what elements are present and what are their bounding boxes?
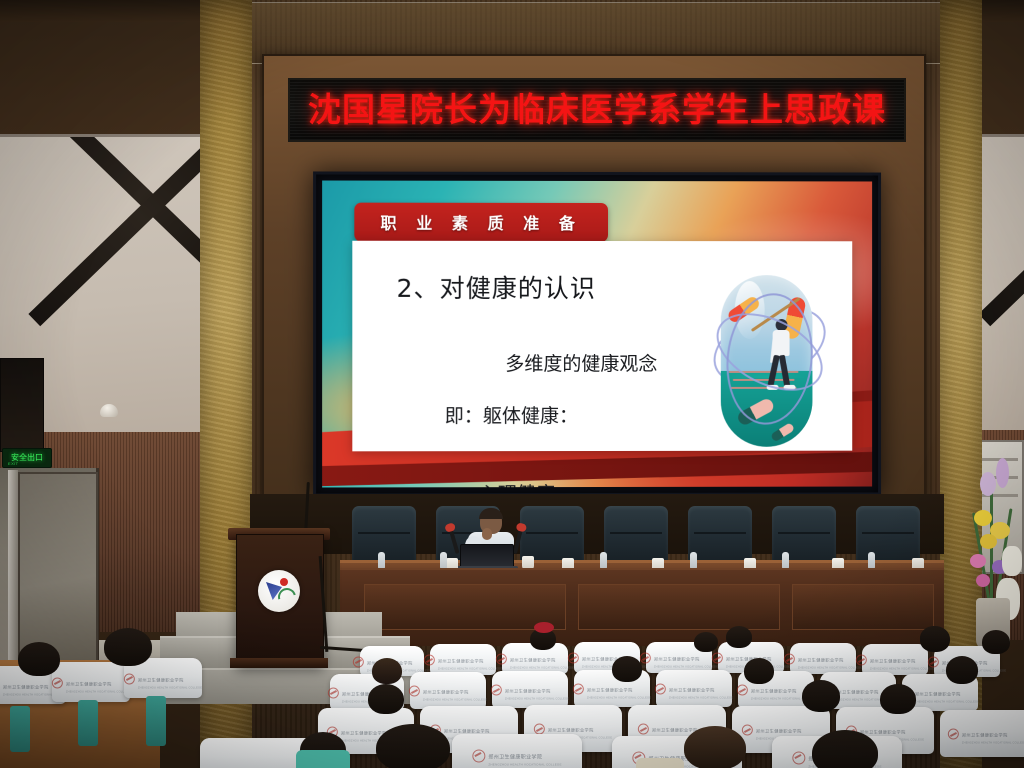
audience-head bbox=[726, 626, 752, 648]
exit-sign-label-en: EXIT bbox=[8, 461, 19, 466]
audience-seat[interactable]: 郑州卫生健康职业学院ZHENGZHOU HEALTH VOCATIONAL CO… bbox=[862, 644, 928, 675]
seat-back-frame bbox=[10, 706, 30, 752]
seat-cover-org: 郑州卫生健康职业学院 bbox=[860, 730, 906, 735]
seat-cover-org: 郑州卫生健康职业学院 bbox=[751, 689, 797, 694]
seat-cover-org: 郑州卫生健康职业学院 bbox=[798, 658, 844, 663]
water-bottle bbox=[868, 552, 875, 569]
seat-cover-org: 郑州卫生健康职业学院 bbox=[488, 754, 542, 760]
slide-body-line-1: 多维度的健康观念 bbox=[505, 353, 657, 375]
flower bbox=[1002, 546, 1022, 576]
water-bottle bbox=[782, 552, 789, 569]
seat-cover-org: 郑州卫生健康职业学院 bbox=[548, 728, 594, 733]
seat-back-frame bbox=[146, 696, 166, 746]
audience-seat[interactable]: 郑州卫生健康职业学院ZHENGZHOU HEALTH VOCATIONAL CO… bbox=[940, 710, 1024, 757]
audience-head bbox=[880, 684, 916, 714]
seat-cover-org-sub: ZHENGZHOU HEALTH VOCATIONAL COLLEGE bbox=[915, 701, 979, 704]
seat-cover-org: 郑州卫生健康职业学院 bbox=[423, 690, 469, 695]
audience-head bbox=[812, 730, 878, 768]
seat-cover-org: 郑州卫生健康职业学院 bbox=[652, 728, 698, 733]
flower bbox=[976, 574, 990, 587]
seat-cover-org: 郑州卫生健康职业学院 bbox=[438, 659, 484, 664]
audience-head bbox=[684, 726, 746, 768]
seat-cover-org-sub: ZHENGZHOU HEALTH VOCATIONAL COLLEGE bbox=[438, 668, 502, 671]
flower bbox=[996, 458, 1009, 488]
hair-bow bbox=[534, 622, 554, 633]
audience-head bbox=[694, 632, 718, 652]
audience-seat[interactable]: 郑州卫生健康职业学院ZHENGZHOU HEALTH VOCATIONAL CO… bbox=[410, 672, 486, 709]
seat-cover-org: 郑州卫生健康职业学院 bbox=[505, 689, 551, 694]
audience-head bbox=[376, 724, 450, 768]
seat-cover-org: 郑州卫生健康职业学院 bbox=[510, 658, 556, 663]
slide-section-tag: 职 业 素 质 准 备 bbox=[354, 203, 608, 242]
flower bbox=[980, 534, 997, 549]
audience-shirt bbox=[636, 758, 684, 768]
audience-head bbox=[982, 630, 1010, 654]
slide-body: 多维度的健康观念 即：躯体健康： 心理健康： 社会健康 bbox=[445, 325, 658, 488]
security-camera-icon bbox=[100, 404, 118, 417]
stage-chair bbox=[688, 506, 752, 566]
seat-cover-org: 郑州卫生健康职业学院 bbox=[138, 677, 184, 682]
seat-cover-org-sub: ZHENGZHOU HEALTH VOCATIONAL COLLEGE bbox=[423, 699, 487, 702]
led-banner-text: 沈国星院长为临床医学系学生上思政课 bbox=[308, 93, 886, 127]
seat-cover-org: 郑州卫生健康职业学院 bbox=[341, 730, 387, 735]
audience-seat[interactable]: 郑州卫生健康职业学院ZHENGZHOU HEALTH VOCATIONAL CO… bbox=[656, 670, 732, 707]
slide-title: 2、对健康的认识 bbox=[397, 269, 596, 305]
seat-cover-org-sub: ZHENGZHOU HEALTH VOCATIONAL COLLEGE bbox=[488, 763, 561, 766]
seat-cover-org: 郑州卫生健康职业学院 bbox=[870, 659, 916, 664]
capsule-health-illustration-icon bbox=[709, 267, 827, 457]
seat-cover-org-sub: ZHENGZHOU HEALTH VOCATIONAL COLLEGE bbox=[510, 667, 574, 670]
stage-chair bbox=[604, 506, 668, 566]
stage-chair bbox=[856, 506, 920, 566]
seat-cover-org: 郑州卫生健康职业学院 bbox=[962, 733, 1008, 738]
audience-seat[interactable]: 郑州卫生健康职业学院ZHENGZHOU HEALTH VOCATIONAL CO… bbox=[492, 671, 568, 708]
seat-cover-org-sub: ZHENGZHOU HEALTH VOCATIONAL COLLEGE bbox=[505, 698, 569, 701]
audience-head bbox=[18, 642, 60, 676]
seat-back-frame bbox=[78, 700, 98, 746]
presentation-slide: 职 业 素 质 准 备 2、对健康的认识 多维度的健康观念 即：躯体健康： 心理… bbox=[322, 181, 872, 488]
slide-body-line-3: 心理健康： bbox=[445, 481, 658, 488]
seat-cover-org-sub: ZHENGZHOU HEALTH VOCATIONAL COLLEGE bbox=[138, 686, 202, 689]
audience-head bbox=[946, 656, 978, 684]
water-bottle bbox=[600, 552, 607, 569]
seat-cover-org-sub: ZHENGZHOU HEALTH VOCATIONAL COLLEGE bbox=[669, 697, 733, 700]
seat-cover-org-sub: ZHENGZHOU HEALTH VOCATIONAL COLLEGE bbox=[798, 667, 862, 670]
seat-cover-org-sub: ZHENGZHOU HEALTH VOCATIONAL COLLEGE bbox=[962, 742, 1024, 745]
audience-head bbox=[104, 628, 152, 666]
audience-head bbox=[372, 658, 402, 684]
audience-area: 郑州卫生健康职业学院ZHENGZHOU HEALTH VOCATIONAL CO… bbox=[0, 612, 1024, 768]
audience-seat[interactable]: 郑州卫生健康职业学院ZHENGZHOU HEALTH VOCATIONAL CO… bbox=[52, 662, 130, 702]
exit-sign: 安全出口 EXIT bbox=[2, 448, 52, 468]
water-bottle bbox=[378, 552, 385, 569]
led-banner: 沈国星院长为临床医学系学生上思政课 bbox=[288, 78, 906, 142]
seat-cover-org: 郑州卫生健康职业学院 bbox=[587, 688, 633, 693]
wall-speaker bbox=[0, 358, 44, 452]
seat-cover-org: 郑州卫生健康职业学院 bbox=[66, 681, 112, 686]
seat-cover-org-sub: ZHENGZHOU HEALTH VOCATIONAL COLLEGE bbox=[870, 668, 934, 671]
seat-cover-org: 郑州卫生健康职业学院 bbox=[915, 692, 961, 697]
audience-head bbox=[920, 626, 950, 652]
audience-seat[interactable]: 郑州卫生健康职业学院ZHENGZHOU HEALTH VOCATIONAL CO… bbox=[452, 734, 582, 768]
water-bottle bbox=[690, 552, 697, 569]
seat-cover-org: 郑州卫生健康职业学院 bbox=[3, 684, 49, 689]
seat-cover-org: 郑州卫生健康职业学院 bbox=[756, 729, 802, 734]
seat-cover-org: 郑州卫生健康职业学院 bbox=[669, 688, 715, 693]
panel-stripe bbox=[978, 134, 1024, 326]
lecture-hall-photo: 安全出口 EXIT 沈国星院长为临床医学系学生上思政课 bbox=[0, 0, 1024, 768]
audience-head bbox=[612, 656, 642, 682]
slide-content-card: 2、对健康的认识 多维度的健康观念 即：躯体健康： 心理健康： 社会健康 bbox=[352, 241, 852, 452]
flower bbox=[970, 554, 986, 568]
projection-screen[interactable]: 职 业 素 质 准 备 2、对健康的认识 多维度的健康观念 即：躯体健康： 心理… bbox=[313, 171, 881, 496]
audience-seat[interactable]: 郑州卫生健康职业学院ZHENGZHOU HEALTH VOCATIONAL CO… bbox=[790, 643, 856, 674]
seat-cover-org-sub: ZHENGZHOU HEALTH VOCATIONAL COLLEGE bbox=[587, 697, 651, 700]
audience-head bbox=[744, 658, 774, 684]
school-emblem-icon bbox=[258, 570, 300, 612]
flower bbox=[974, 510, 992, 526]
flower bbox=[980, 472, 996, 496]
seat-cover-org-sub: ZHENGZHOU HEALTH VOCATIONAL COLLEGE bbox=[66, 690, 130, 693]
audience-shirt bbox=[296, 750, 350, 768]
slide-section-tag-label: 职 业 素 质 准 备 bbox=[380, 214, 581, 233]
seat-cover-org-sub: ZHENGZHOU HEALTH VOCATIONAL COLLEGE bbox=[654, 666, 718, 669]
audience-seat[interactable]: 郑州卫生健康职业学院ZHENGZHOU HEALTH VOCATIONAL CO… bbox=[430, 644, 496, 675]
audience-head bbox=[368, 684, 404, 714]
slide-body-line-2: 即：躯体健康： bbox=[445, 403, 658, 429]
audience-head bbox=[802, 680, 840, 712]
seat-cover-org: 郑州卫生健康职业学院 bbox=[654, 657, 700, 662]
water-bottle bbox=[440, 552, 447, 569]
